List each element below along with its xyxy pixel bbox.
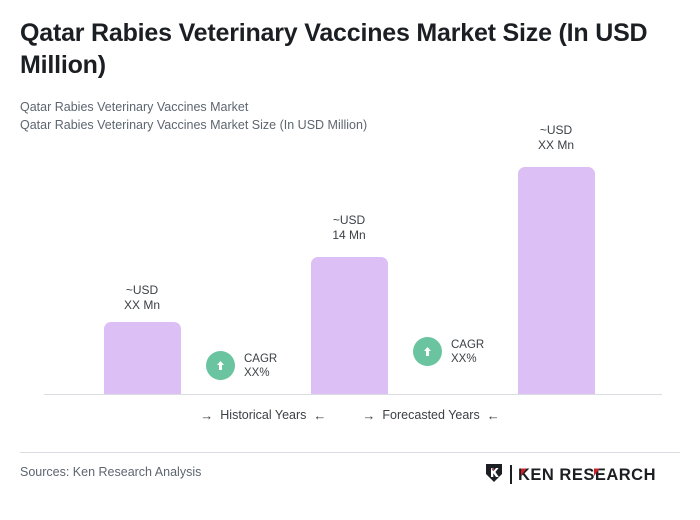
bar-interim — [311, 257, 388, 395]
chart-page: Qatar Rabies Veterinary Vaccines Market … — [0, 0, 700, 520]
arrow-right-icon: → — [200, 409, 213, 422]
bar-value-label-1: ~USD XX Mn — [82, 283, 202, 312]
bar-value-label-2-line2: 14 Mn — [289, 228, 409, 243]
axis-span-forecasted-label: Forecasted Years — [382, 408, 479, 422]
arrow-up-icon — [206, 351, 235, 380]
bar-value-label-2: ~USD 14 Mn — [289, 213, 409, 242]
arrow-left-icon: ← — [487, 409, 500, 422]
footer-divider — [20, 452, 680, 453]
axis-legend: → Historical Years ← → Forecasted Years … — [0, 408, 700, 422]
bar-value-label-2-line1: ~USD — [289, 213, 409, 228]
bar-historical — [104, 322, 181, 395]
arrow-left-icon: ← — [313, 409, 326, 422]
bar-value-label-3-line2: XX Mn — [496, 138, 616, 153]
ken-research-logo: KEN RESEARCH — [484, 462, 682, 489]
chart-plot-area: ~USD XX Mn ~USD 14 Mn ~USD XX Mn CAGR XX… — [0, 0, 700, 440]
bar-value-label-1-line2: XX Mn — [82, 298, 202, 313]
axis-baseline — [44, 394, 662, 395]
cagr-badge-1-label: CAGR — [244, 353, 277, 365]
bar-value-label-3: ~USD XX Mn — [496, 123, 616, 152]
cagr-badge-2-label: CAGR — [451, 339, 484, 351]
arrow-up-icon — [413, 337, 442, 366]
arrow-right-icon: → — [362, 409, 375, 422]
bar-forecast — [518, 167, 595, 395]
axis-span-forecasted: → Forecasted Years ← — [362, 408, 499, 422]
svg-text:KEN RESEARCH: KEN RESEARCH — [518, 466, 656, 484]
ken-research-wordmark: KEN RESEARCH — [510, 465, 682, 487]
cagr-badge-1: CAGR XX% — [206, 351, 277, 380]
bar-value-label-1-line1: ~USD — [82, 283, 202, 298]
cagr-badge-2-value: XX% — [451, 353, 477, 365]
axis-span-historical: → Historical Years ← — [200, 408, 326, 422]
ken-research-shield-icon — [484, 462, 504, 489]
cagr-badge-2: CAGR XX% — [413, 337, 484, 366]
cagr-badge-2-text: CAGR XX% — [451, 338, 484, 366]
cagr-badge-1-text: CAGR XX% — [244, 352, 277, 380]
bar-value-label-3-line1: ~USD — [496, 123, 616, 138]
sources-text: Sources: Ken Research Analysis — [20, 465, 201, 479]
axis-span-historical-label: Historical Years — [220, 408, 306, 422]
cagr-badge-1-value: XX% — [244, 367, 270, 379]
